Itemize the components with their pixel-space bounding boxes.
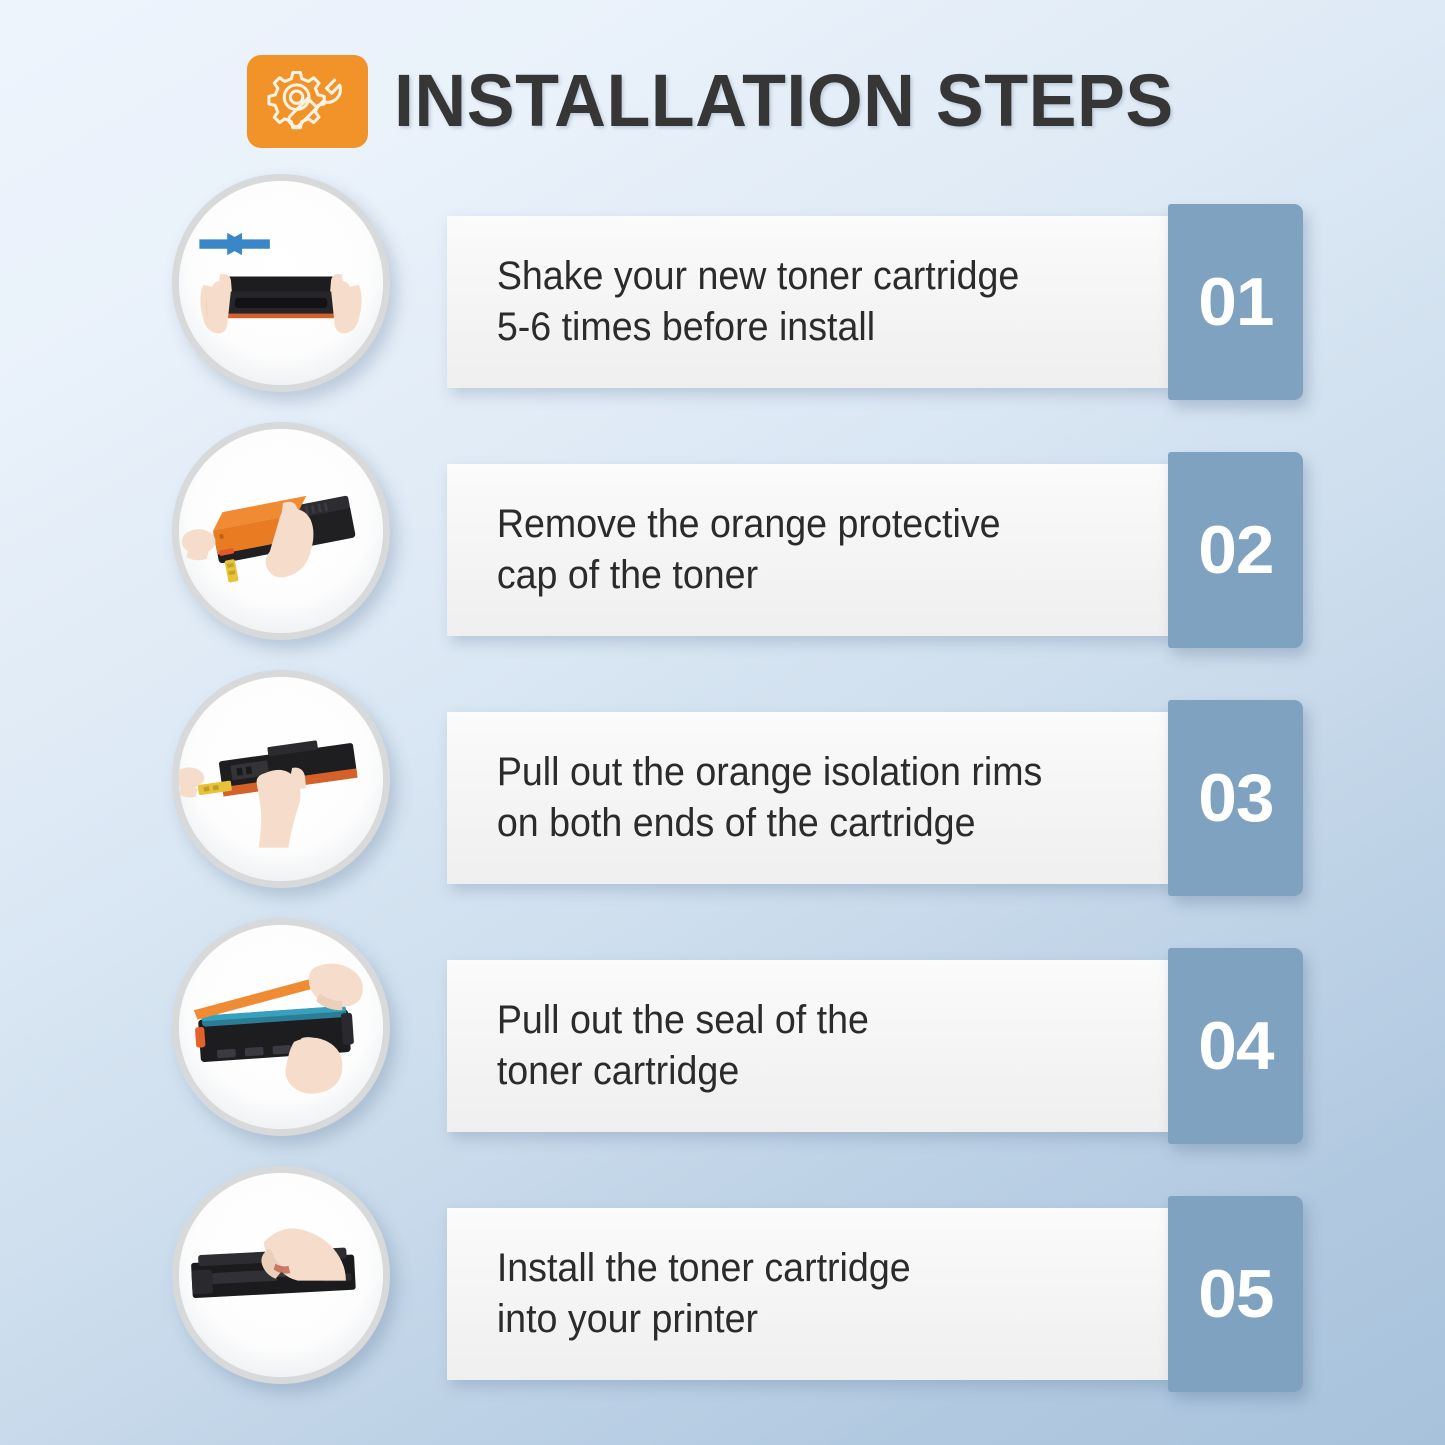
- step-card: Remove the orange protective cap of the …: [447, 464, 1170, 636]
- page-title: INSTALLATION STEPS: [394, 64, 1174, 138]
- step-card: Shake your new toner cartridge 5-6 times…: [447, 216, 1170, 388]
- step-illustration-remove-cap: [172, 422, 390, 640]
- step-row: Shake your new toner cartridge 5-6 times…: [0, 168, 1445, 416]
- step-number-label: 04: [1198, 1012, 1273, 1080]
- step-number-badge: 01: [1168, 204, 1303, 400]
- step-description: Install the toner cartridge into your pr…: [447, 1243, 928, 1345]
- step-card: Pull out the orange isolation rims on bo…: [447, 712, 1170, 884]
- step-illustration-pull-isolation-rims: [172, 670, 390, 888]
- step-number-label: 05: [1198, 1260, 1273, 1328]
- step-number-badge: 04: [1168, 948, 1303, 1144]
- step-number-label: 03: [1198, 764, 1273, 832]
- step-illustration-pull-seal: [172, 918, 390, 1136]
- step-description: Pull out the seal of the toner cartridge: [447, 995, 886, 1097]
- step-description: Pull out the orange isolation rims on bo…: [447, 747, 1059, 849]
- gear-wrench-icon: [247, 55, 368, 148]
- step-number-label: 02: [1198, 516, 1273, 584]
- step-row: Install the toner cartridge into your pr…: [0, 1160, 1445, 1408]
- step-number-label: 01: [1198, 268, 1273, 336]
- step-row: Pull out the seal of the toner cartridge…: [0, 912, 1445, 1160]
- installation-steps-list: Shake your new toner cartridge 5-6 times…: [0, 168, 1445, 1408]
- step-number-badge: 03: [1168, 700, 1303, 896]
- step-card: Pull out the seal of the toner cartridge: [447, 960, 1170, 1132]
- step-description: Remove the orange protective cap of the …: [447, 499, 1017, 601]
- step-description: Shake your new toner cartridge 5-6 times…: [447, 251, 1036, 353]
- page-header: INSTALLATION STEPS: [0, 48, 1445, 154]
- step-illustration-install-cartridge: [172, 1166, 390, 1384]
- step-card: Install the toner cartridge into your pr…: [447, 1208, 1170, 1380]
- step-illustration-shake-cartridge: [172, 174, 390, 392]
- step-row: Remove the orange protective cap of the …: [0, 416, 1445, 664]
- step-number-badge: 05: [1168, 1196, 1303, 1392]
- step-row: Pull out the orange isolation rims on bo…: [0, 664, 1445, 912]
- step-number-badge: 02: [1168, 452, 1303, 648]
